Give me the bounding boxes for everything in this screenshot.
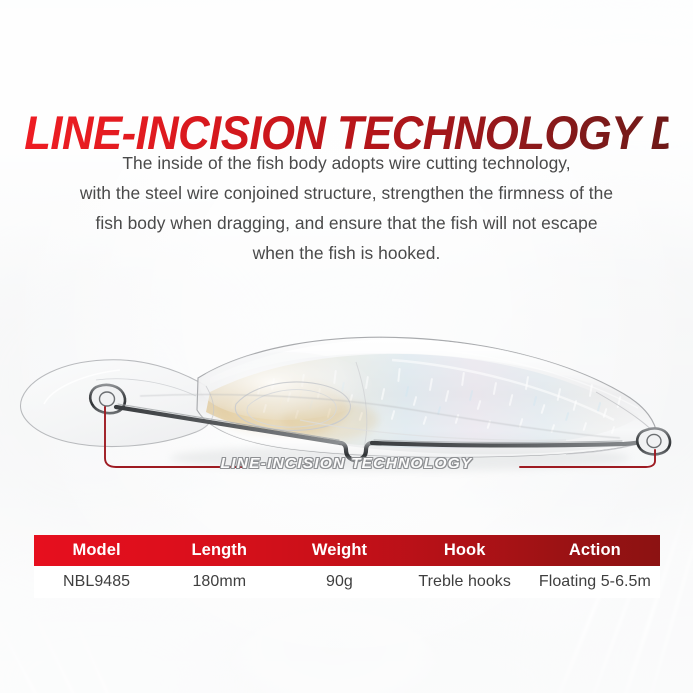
spec-header-action: Action [530,535,660,566]
description-line-4: when the fish is hooked. [30,238,663,268]
background-blur-shape [0,590,240,693]
description-paragraph: The inside of the fish body adopts wire … [30,148,663,268]
tail-eyelet [637,428,670,454]
spec-header-length: Length [159,535,279,566]
spec-header-weight: Weight [279,535,399,566]
description-line-2: with the steel wire conjoined structure,… [30,178,663,208]
description-line-1: The inside of the fish body adopts wire … [30,148,663,178]
spec-cell-model: NBL9485 [34,566,159,598]
spec-header-model: Model [34,535,159,566]
background-streak [73,617,140,693]
spec-cell-action: Floating 5-6.5m [530,566,660,598]
background-cap-shape [230,612,440,693]
description-line-3: fish body when dragging, and ensure that… [30,208,663,238]
spec-table-header-row: Model Length Weight Hook Action [34,535,660,566]
spec-header-hook: Hook [400,535,530,566]
background-streak [0,609,72,693]
head-gloss [200,352,372,420]
spec-cell-hook: Treble hooks [400,566,530,598]
background-streak [31,608,107,693]
spec-cell-weight: 90g [279,566,399,598]
product-feature-page: LINE-INCISION TECHNOLOGY DESIGN The insi… [0,0,693,693]
callout-label: LINE-INCISION TECHNOLOGY [0,455,693,472]
spec-table-row: NBL9485 180mm 90g Treble hooks Floating … [34,566,660,598]
spec-cell-length: 180mm [159,566,279,598]
spec-table: Model Length Weight Hook Action NBL9485 … [34,535,660,598]
